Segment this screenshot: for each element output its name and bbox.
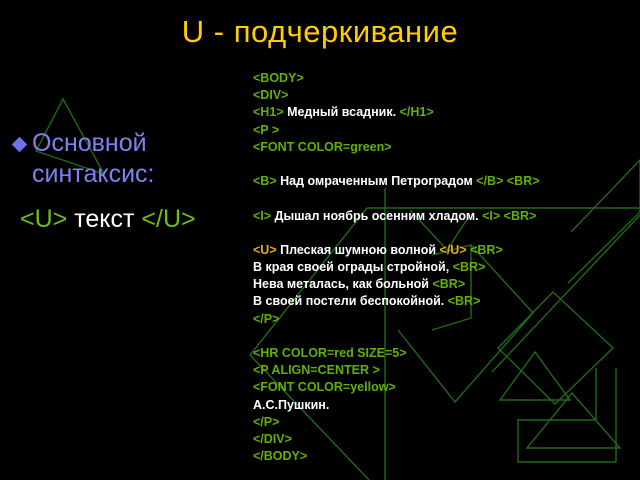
code-line: </BODY>	[253, 448, 633, 465]
code-line: <I> Дышал ноябрь осенним хладом. <I> <BR…	[253, 208, 633, 225]
code-tag: <P >	[253, 123, 279, 137]
code-tag: <BR>	[453, 260, 486, 274]
code-tag: <I>	[482, 209, 500, 223]
code-line: <P ALIGN=CENTER >	[253, 362, 633, 379]
code-line-blank	[253, 225, 633, 242]
code-tag: <BR>	[470, 243, 503, 257]
syntax-middle-text: текст	[67, 205, 141, 233]
code-line: <BODY>	[253, 70, 633, 87]
code-line: Нева металась, как больной <BR>	[253, 276, 633, 293]
code-tag: <HR COLOR=red SIZE=5>	[253, 346, 407, 360]
syntax-example: <U> текст </U>	[14, 204, 246, 234]
bullet-block: Основной синтаксис: <U> текст </U>	[14, 128, 246, 234]
code-line: </P>	[253, 414, 633, 431]
code-line: В своей постели беспокойной. <BR>	[253, 293, 633, 310]
diamond-bullet-icon	[12, 137, 28, 153]
code-line: <DIV>	[253, 87, 633, 104]
code-line: <B> Над омраченным Петроградом </B> <BR>	[253, 173, 633, 190]
code-line: <FONT COLOR=green>	[253, 139, 633, 156]
code-text: Нева металась, как больной	[253, 277, 432, 291]
code-line: А.С.Пушкин.	[253, 397, 633, 414]
code-tag: <FONT COLOR=yellow>	[253, 380, 396, 394]
code-line: <HR COLOR=red SIZE=5>	[253, 345, 633, 362]
code-tag: <DIV>	[253, 88, 288, 102]
code-line: <U> Плеская шумною волной </U> <BR>	[253, 242, 633, 259]
code-tag: </H1>	[400, 105, 434, 119]
slide-canvas: U - подчеркивание Основной синтаксис: <U…	[0, 0, 640, 480]
code-text: Плеская шумною волной	[277, 243, 440, 257]
code-tag: <I>	[253, 209, 271, 223]
code-tag: <H1>	[253, 105, 284, 119]
code-tag: <BODY>	[253, 71, 304, 85]
code-tag: <P ALIGN=CENTER >	[253, 363, 380, 377]
code-line-blank	[253, 156, 633, 173]
syntax-open-tag: <U>	[20, 205, 67, 233]
code-text: Медный всадник.	[284, 105, 400, 119]
code-line: <H1> Медный всадник. </H1>	[253, 104, 633, 121]
code-tag: </DIV>	[253, 432, 292, 446]
code-line: <FONT COLOR=yellow>	[253, 379, 633, 396]
page-title: U - подчеркивание	[0, 14, 640, 50]
code-text: Дышал ноябрь осенним хладом.	[271, 209, 482, 223]
code-tag: <BR>	[507, 174, 540, 188]
code-line: </P>	[253, 311, 633, 328]
code-text: В своей постели беспокойной.	[253, 294, 448, 308]
code-line: <P >	[253, 122, 633, 139]
code-tag: <BR>	[432, 277, 465, 291]
code-text: А.С.Пушкин.	[253, 398, 329, 412]
bullet-list-item: Основной синтаксис:	[14, 128, 246, 190]
code-tag: </BODY>	[253, 449, 307, 463]
code-listing: <BODY><DIV><H1> Медный всадник. </H1><P …	[253, 70, 633, 465]
code-tag: <B>	[253, 174, 277, 188]
code-text: Над омраченным Петроградом	[277, 174, 477, 188]
syntax-close-tag: </U>	[141, 205, 195, 233]
code-tag: </P>	[253, 415, 279, 429]
code-line: </DIV>	[253, 431, 633, 448]
code-tag: <BR>	[448, 294, 481, 308]
code-line-blank	[253, 328, 633, 345]
code-tag: <FONT COLOR=green>	[253, 140, 392, 154]
code-tag: </B>	[476, 174, 503, 188]
code-text: В края своей ограды стройной,	[253, 260, 453, 274]
bullet-item-label: Основной синтаксис:	[32, 128, 246, 190]
code-tag: <BR>	[504, 209, 537, 223]
code-tag: </U>	[440, 243, 467, 257]
code-tag: </P>	[253, 312, 279, 326]
code-line-blank	[253, 190, 633, 207]
code-line: В края своей ограды стройной, <BR>	[253, 259, 633, 276]
code-tag: <U>	[253, 243, 277, 257]
